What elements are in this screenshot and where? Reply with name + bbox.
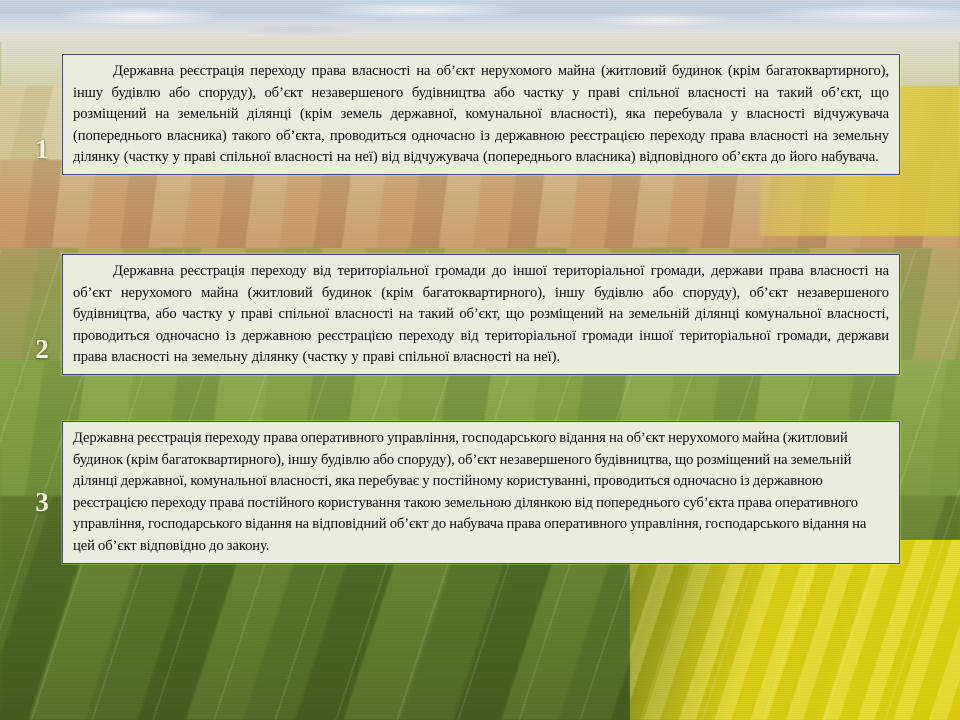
text-block-2-paragraph: Державна реєстрація переходу від територ… — [73, 261, 889, 369]
text-block-1-paragraph: Державна реєстрація переходу права власн… — [73, 61, 889, 169]
marker-number-2: 2 — [22, 336, 62, 363]
text-block-1: Державна реєстрація переходу права власн… — [62, 54, 900, 175]
text-block-3: Державна реєстрація переходу права опера… — [62, 421, 900, 564]
text-block-2: Державна реєстрація переходу від територ… — [62, 254, 900, 375]
marker-number-1: 1 — [22, 136, 62, 163]
slide-canvas: 1 2 3 Державна реєстрація переходу права… — [0, 0, 960, 720]
marker-number-3: 3 — [22, 489, 62, 516]
text-block-3-paragraph: Державна реєстрація переходу права опера… — [73, 428, 889, 558]
